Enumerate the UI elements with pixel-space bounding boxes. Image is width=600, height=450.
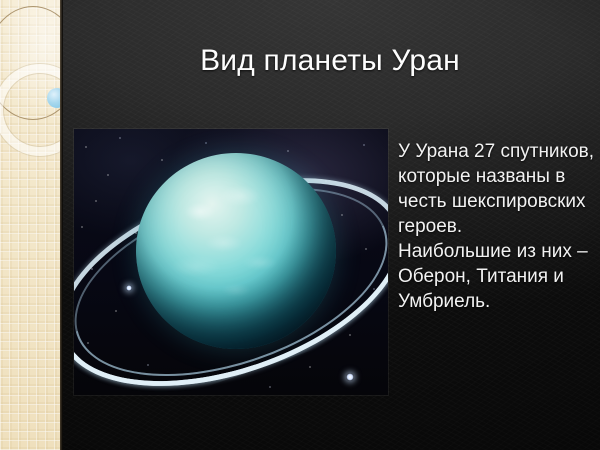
left-decorative-strip xyxy=(0,0,60,450)
uranus-photo xyxy=(74,129,388,395)
blue-dot-icon xyxy=(47,88,60,108)
bright-star-icon xyxy=(346,373,354,381)
slide-body-text: У Урана 27 спутников, которые названы в … xyxy=(398,139,596,314)
slide-title: Вид планеты Уран xyxy=(60,42,600,80)
presentation-slide: Вид планеты Уран У Урана 27 спутников, к… xyxy=(0,0,600,450)
pale-ring-icon xyxy=(0,64,60,156)
